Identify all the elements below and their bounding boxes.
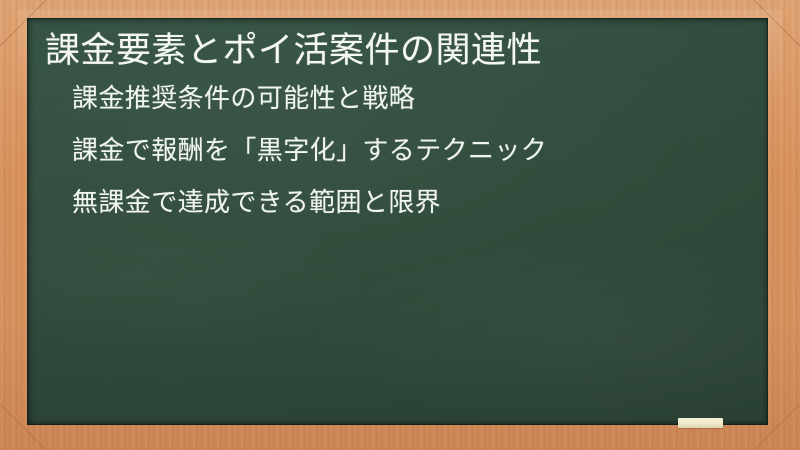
chalk-stick-icon — [678, 418, 723, 428]
slide-title: 課金要素とポイ活案件の関連性 — [45, 30, 746, 73]
list-item: 課金で報酬を「黒字化」するテクニック — [72, 137, 746, 163]
chalkboard-surface: 課金要素とポイ活案件の関連性 課金推奨条件の可能性と戦略 課金で報酬を「黒字化」… — [27, 18, 768, 425]
chalkboard-slide: 課金要素とポイ活案件の関連性 課金推奨条件の可能性と戦略 課金で報酬を「黒字化」… — [0, 0, 800, 450]
list-item: 課金推奨条件の可能性と戦略 — [72, 85, 746, 111]
slide-bullet-list: 課金推奨条件の可能性と戦略 課金で報酬を「黒字化」するテクニック 無課金で達成で… — [45, 85, 746, 215]
list-item: 無課金で達成できる範囲と限界 — [72, 189, 746, 215]
chalkboard-content: 課金要素とポイ活案件の関連性 課金推奨条件の可能性と戦略 課金で報酬を「黒字化」… — [27, 18, 768, 425]
